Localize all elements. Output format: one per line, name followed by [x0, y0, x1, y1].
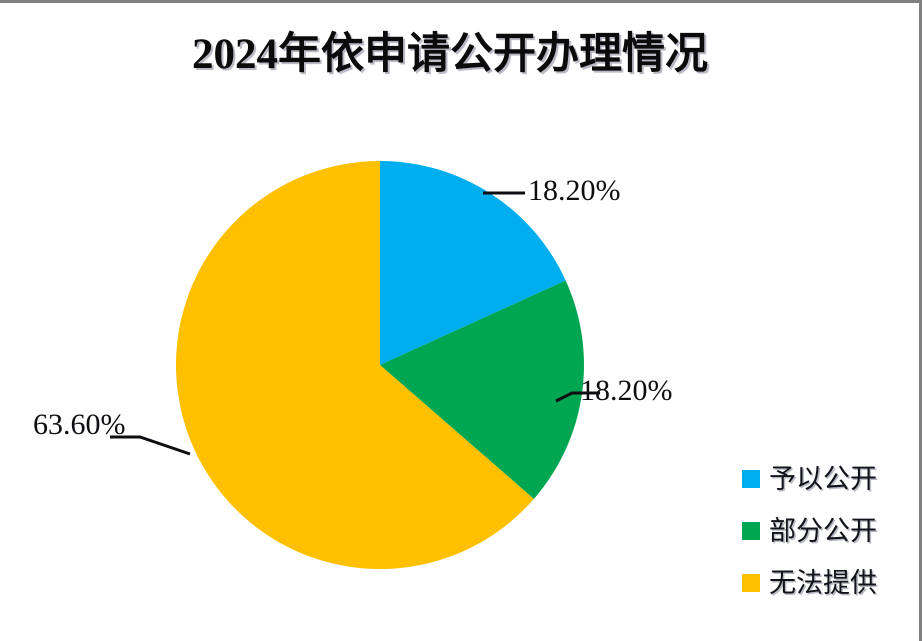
data-label-bufengongkai: 18.20%: [580, 374, 673, 408]
legend-item-label: 无法提供: [769, 568, 877, 598]
legend-item-yuyigongkai[interactable]: 予以公开: [742, 453, 892, 505]
pie-chart-panel: 2024年依申请公开办理情况 18.20% 18.20% 63.60% 予以公开…: [0, 0, 922, 641]
legend-item-label: 部分公开: [769, 516, 877, 546]
pie-svg: [176, 161, 584, 569]
legend-swatch-icon: [742, 522, 760, 540]
legend-item-wufatigong[interactable]: 无法提供: [742, 557, 892, 609]
legend-item-bufengongkai[interactable]: 部分公开: [742, 505, 892, 557]
legend-item-label: 予以公开: [769, 464, 877, 494]
pie-chart-graphic: [176, 161, 584, 569]
chart-title: 2024年依申请公开办理情况: [0, 27, 900, 83]
data-label-yuyigongkai: 18.20%: [528, 174, 621, 208]
data-label-wufatigong: 63.60%: [33, 408, 126, 442]
legend-swatch-icon: [742, 470, 760, 488]
chart-legend: 予以公开 部分公开 无法提供: [742, 453, 892, 609]
legend-swatch-icon: [742, 574, 760, 592]
